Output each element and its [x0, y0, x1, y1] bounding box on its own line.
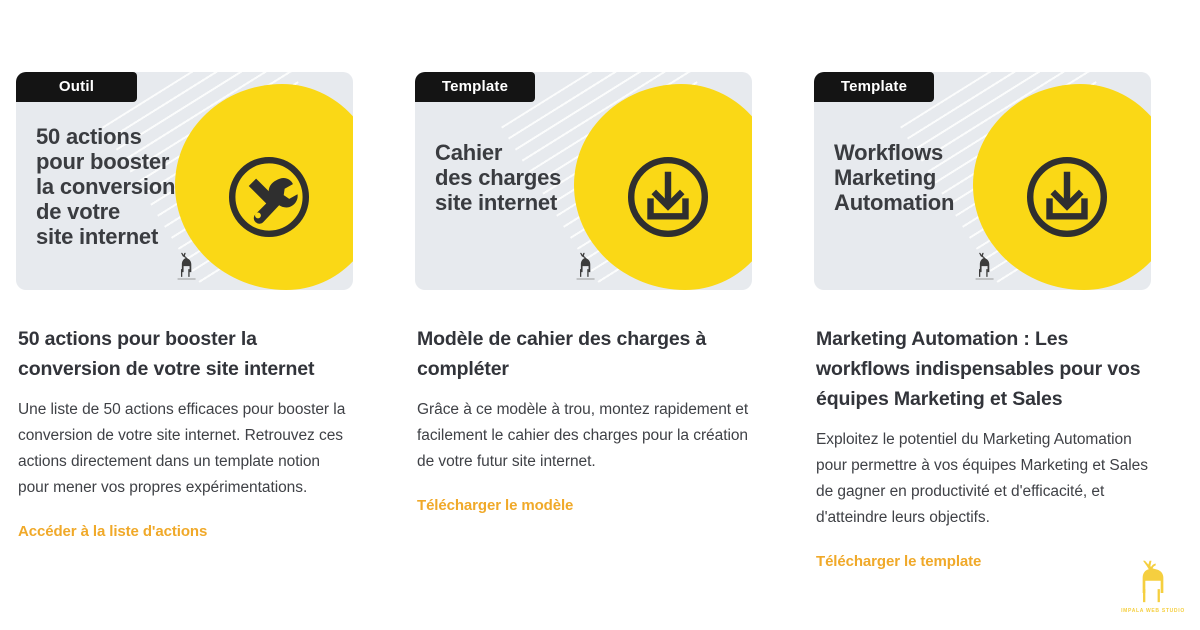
deer-watermark-icon [972, 252, 998, 282]
card-cta-link[interactable]: Télécharger le modèle [417, 497, 573, 514]
card-badge: Template [814, 72, 934, 102]
card-cta-link[interactable]: Télécharger le template [816, 553, 981, 570]
card-cta-link[interactable]: Accéder à la liste d'actions [18, 523, 207, 540]
tools-icon [223, 151, 315, 243]
logo-wordmark: IMPALA WEB STUDIO [1120, 608, 1186, 614]
resource-card[interactable]: Template Workflows Marketing Automation … [814, 72, 1151, 571]
card-description: Une liste de 50 actions efficaces pour b… [18, 397, 351, 501]
card-thumbnail[interactable]: Template Workflows Marketing Automation [814, 72, 1151, 290]
deer-watermark-icon [174, 252, 200, 282]
card-title: 50 actions pour booster la conversion de… [18, 324, 351, 384]
thumbnail-title: 50 actions pour booster la conversion de… [36, 124, 175, 249]
card-thumbnail[interactable]: Outil 50 actions pour booster la convers… [16, 72, 353, 290]
card-title: Marketing Automation : Les workflows ind… [816, 324, 1149, 414]
card-body: Marketing Automation : Les workflows ind… [814, 324, 1151, 571]
card-description: Exploitez le potentiel du Marketing Auto… [816, 427, 1149, 531]
card-body: 50 actions pour booster la conversion de… [16, 324, 353, 541]
download-icon [1021, 151, 1113, 243]
card-title: Modèle de cahier des charges à compléter [417, 324, 750, 384]
deer-watermark-icon [573, 252, 599, 282]
card-grid: Outil 50 actions pour booster la convers… [0, 0, 1200, 571]
card-body: Modèle de cahier des charges à compléter… [415, 324, 752, 515]
card-badge: Outil [16, 72, 137, 102]
impala-deer-logo: IMPALA WEB STUDIO [1120, 560, 1186, 622]
card-thumbnail[interactable]: Template Cahier des charges site interne… [415, 72, 752, 290]
resource-card[interactable]: Outil 50 actions pour booster la convers… [16, 72, 353, 571]
resources-card-grid-page: Outil 50 actions pour booster la convers… [0, 0, 1200, 630]
thumbnail-title: Cahier des charges site internet [435, 140, 561, 215]
download-icon [622, 151, 714, 243]
card-badge: Template [415, 72, 535, 102]
resource-card[interactable]: Template Cahier des charges site interne… [415, 72, 752, 571]
thumbnail-title: Workflows Marketing Automation [834, 140, 954, 215]
card-description: Grâce à ce modèle à trou, montez rapidem… [417, 397, 750, 475]
